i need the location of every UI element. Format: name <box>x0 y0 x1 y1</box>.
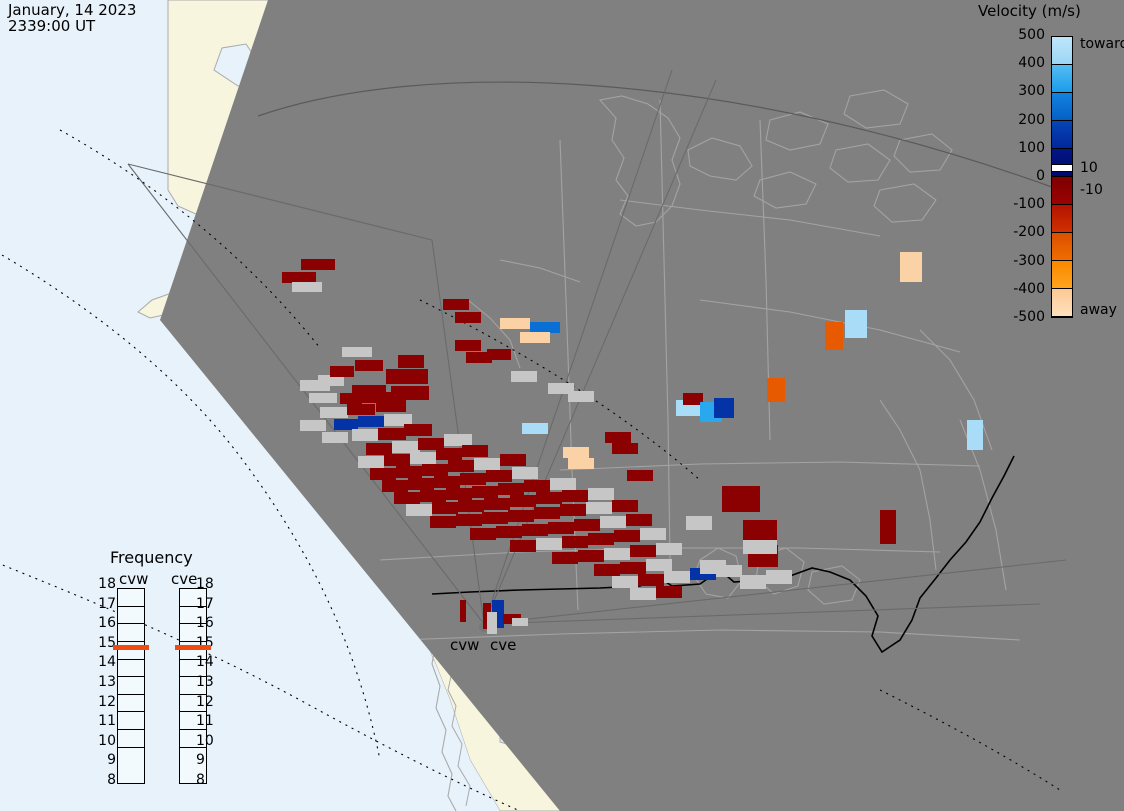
velocity-cell <box>646 559 672 571</box>
colorbar-tick-label: -200 <box>1013 224 1045 240</box>
frequency-tick-label: 12 <box>196 694 226 710</box>
velocity-cell <box>588 488 614 500</box>
frequency-cell <box>118 712 144 730</box>
colorbar-zero-upper-label: 10 <box>1080 160 1098 176</box>
velocity-cell <box>462 445 488 457</box>
velocity-cell <box>880 510 896 544</box>
velocity-cell <box>845 310 867 338</box>
velocity-cell <box>370 468 396 480</box>
velocity-cell <box>358 416 384 427</box>
velocity-cell <box>630 588 656 600</box>
colorbar-segment <box>1052 121 1072 149</box>
frequency-marker <box>113 645 149 650</box>
velocity-cell <box>552 552 578 564</box>
velocity-cell <box>578 550 604 562</box>
velocity-cell <box>352 429 378 441</box>
velocity-cell <box>366 443 392 455</box>
velocity-cell <box>656 543 682 555</box>
velocity-cell <box>520 332 550 343</box>
velocity-cell <box>714 398 734 418</box>
velocity-cell <box>500 454 526 466</box>
frequency-tick-label: 16 <box>86 615 116 631</box>
velocity-cell <box>530 322 560 333</box>
colorbar-zero-lower-label: -10 <box>1080 182 1103 198</box>
velocity-cell <box>396 466 422 478</box>
velocity-cell <box>301 259 335 270</box>
velocity-cell <box>300 420 326 431</box>
frequency-tick-label: 8 <box>86 772 116 788</box>
velocity-cell <box>300 380 330 391</box>
velocity-cell <box>487 612 497 634</box>
velocity-cell <box>342 347 372 357</box>
frequency-scale-label-cvw: cvw <box>119 570 148 588</box>
radar-map-figure: January, 14 20232339:00 UT Velocity (m/s… <box>0 0 1124 811</box>
colorbar-tick-label: 300 <box>1018 83 1045 99</box>
velocity-cell <box>612 576 638 588</box>
velocity-cell <box>484 498 510 510</box>
velocity-cell <box>500 318 530 329</box>
frequency-tick-label: 17 <box>86 596 116 612</box>
velocity-cell <box>568 391 594 402</box>
frequency-tick-label: 18 <box>196 576 226 592</box>
velocity-cell <box>766 570 792 584</box>
frequency-cell <box>118 660 144 678</box>
velocity-cell <box>434 476 460 488</box>
velocity-cell <box>536 492 562 504</box>
velocity-cell <box>534 507 560 519</box>
colorbar-tick-label: 100 <box>1018 140 1045 156</box>
velocity-cell <box>292 282 322 292</box>
colorbar-segment <box>1052 177 1072 205</box>
velocity-cell <box>410 452 436 464</box>
velocity-cell <box>455 312 481 323</box>
velocity-cell <box>511 371 537 382</box>
velocity-cell <box>620 562 646 574</box>
title-time: 2339:00 UT <box>8 17 95 35</box>
velocity-cell <box>510 540 536 552</box>
velocity-cell <box>320 407 348 418</box>
velocity-cell <box>614 530 640 542</box>
velocity-cell <box>309 393 337 403</box>
frequency-tick-label: 10 <box>196 733 226 749</box>
velocity-cell <box>967 420 983 450</box>
frequency-tick-label: 14 <box>86 654 116 670</box>
velocity-cell <box>340 393 362 404</box>
frequency-tick-label: 13 <box>86 674 116 690</box>
velocity-cell <box>420 490 446 502</box>
frequency-tick-label: 13 <box>196 674 226 690</box>
frequency-cell <box>118 730 144 748</box>
frequency-tick-label: 15 <box>86 635 116 651</box>
velocity-cell <box>548 522 574 534</box>
map-layer <box>0 0 1124 811</box>
velocity-cell <box>900 252 922 282</box>
velocity-cell <box>474 458 500 470</box>
frequency-cell <box>118 695 144 713</box>
velocity-cell <box>568 458 594 469</box>
velocity-cell <box>686 516 712 530</box>
velocity-cell <box>743 540 777 554</box>
colorbar-tick-label: -400 <box>1013 281 1045 297</box>
velocity-cell <box>432 502 458 514</box>
frequency-marker <box>175 645 211 650</box>
velocity-cell <box>604 548 630 560</box>
frequency-tick-label: 11 <box>196 713 226 729</box>
velocity-cell <box>446 488 472 500</box>
colorbar-segment <box>1052 37 1072 65</box>
velocity-cell <box>536 538 562 550</box>
frequency-bar-cvw <box>117 588 145 784</box>
frequency-legend-title: Frequency <box>110 548 193 567</box>
frequency-scale-label-cve: cve <box>171 570 197 588</box>
velocity-cell <box>626 514 652 526</box>
velocity-cell <box>482 512 508 524</box>
frequency-cell <box>118 624 144 642</box>
velocity-cell <box>460 473 486 485</box>
velocity-cell <box>384 454 410 466</box>
velocity-cell <box>722 486 760 512</box>
velocity-cell <box>448 460 474 472</box>
velocity-cell <box>524 480 550 492</box>
velocity-cell <box>612 443 638 454</box>
velocity-cell <box>594 564 620 576</box>
velocity-cell <box>522 524 548 536</box>
velocity-cell <box>640 528 666 540</box>
frequency-tick-label: 18 <box>86 576 116 592</box>
velocity-cell <box>563 447 589 458</box>
velocity-cell <box>334 419 358 430</box>
colorbar-tick-label: -300 <box>1013 253 1045 269</box>
frequency-tick-label: 12 <box>86 694 116 710</box>
frequency-tick-label: 11 <box>86 713 116 729</box>
velocity-cell <box>470 528 496 540</box>
velocity-cell <box>444 434 472 446</box>
colorbar-tick-label: 200 <box>1018 112 1045 128</box>
velocity-cell <box>510 495 536 507</box>
velocity-cell <box>347 404 375 415</box>
velocity-cell <box>700 560 726 574</box>
velocity-cell <box>562 490 588 502</box>
timestamp-title: January, 14 20232339:00 UT <box>8 2 136 34</box>
velocity-cell <box>486 470 512 482</box>
velocity-cell <box>458 500 484 512</box>
velocity-cell <box>436 448 462 460</box>
velocity-cell <box>740 575 766 589</box>
velocity-cell <box>550 478 576 490</box>
velocity-cell <box>743 520 777 542</box>
velocity-cell <box>472 486 498 498</box>
velocity-cell <box>322 432 348 443</box>
velocity-cell <box>391 386 429 400</box>
colorbar-tick-label: -100 <box>1013 196 1045 212</box>
velocity-cell <box>508 510 534 522</box>
velocity-cell <box>627 470 653 481</box>
velocity-cell <box>600 516 626 528</box>
velocity-cell <box>630 545 656 557</box>
velocity-cell <box>586 502 612 514</box>
velocity-cell <box>496 526 522 538</box>
velocity-cell <box>522 423 548 434</box>
velocity-cell <box>825 322 843 350</box>
colorbar-segment <box>1052 289 1072 317</box>
velocity-cell <box>562 536 588 548</box>
velocity-cell <box>386 369 428 384</box>
frequency-tick-label: 9 <box>86 752 116 768</box>
velocity-cell <box>282 272 316 283</box>
colorbar-tick-label: -500 <box>1013 309 1045 325</box>
velocity-cell <box>430 516 456 528</box>
colorbar-segment <box>1052 205 1072 233</box>
velocity-cell <box>455 340 481 351</box>
velocity-cell <box>638 574 664 586</box>
velocity-cell <box>487 349 511 360</box>
velocity-colorbar <box>1051 36 1073 318</box>
velocity-cell <box>456 514 482 526</box>
site-label-cve: cve <box>490 636 516 654</box>
velocity-cell <box>392 441 420 453</box>
frequency-tick-label: 8 <box>196 772 226 788</box>
velocity-cell <box>398 355 424 368</box>
frequency-tick-label: 9 <box>196 752 226 768</box>
colorbar-zero-band <box>1052 164 1072 172</box>
colorbar-title: Velocity (m/s) <box>978 2 1081 20</box>
velocity-cell <box>355 360 383 371</box>
frequency-tick-label: 14 <box>196 654 226 670</box>
velocity-cell <box>512 618 528 626</box>
velocity-cell <box>378 428 406 440</box>
frequency-cell <box>118 607 144 625</box>
colorbar-tick-label: 400 <box>1018 55 1045 71</box>
velocity-cell <box>330 366 354 377</box>
velocity-cell <box>406 504 432 516</box>
velocity-cell <box>460 600 466 622</box>
colorbar-segment <box>1052 65 1072 93</box>
frequency-tick-label: 17 <box>196 596 226 612</box>
velocity-cell <box>612 500 638 512</box>
velocity-cell <box>605 432 631 443</box>
colorbar-segment <box>1052 261 1072 289</box>
velocity-cell <box>404 424 432 436</box>
velocity-cell <box>382 480 408 492</box>
velocity-cell <box>498 483 524 495</box>
velocity-cell <box>767 378 785 402</box>
velocity-cell <box>512 467 538 479</box>
colorbar-away-label: away <box>1080 302 1117 318</box>
frequency-tick-label: 16 <box>196 615 226 631</box>
velocity-cell <box>408 478 434 490</box>
velocity-cell <box>358 456 384 468</box>
colorbar-tick-label: 500 <box>1018 27 1045 43</box>
colorbar-segment <box>1052 93 1072 121</box>
velocity-cell <box>588 533 614 545</box>
frequency-tick-label: 10 <box>86 733 116 749</box>
colorbar-tick-label: 0 <box>1036 168 1045 184</box>
velocity-cell <box>376 400 406 412</box>
colorbar-toward-label: toward <box>1080 36 1124 52</box>
site-label-cvw: cvw <box>450 636 479 654</box>
velocity-cell <box>443 299 469 310</box>
velocity-cell <box>664 571 690 583</box>
frequency-cell <box>118 589 144 607</box>
velocity-cell <box>422 464 448 476</box>
velocity-cell <box>560 504 586 516</box>
colorbar-segment <box>1052 233 1072 261</box>
velocity-cell <box>574 519 600 531</box>
velocity-cell <box>656 586 682 598</box>
frequency-cell <box>118 748 144 766</box>
frequency-cell <box>118 677 144 695</box>
velocity-cell <box>394 492 420 504</box>
